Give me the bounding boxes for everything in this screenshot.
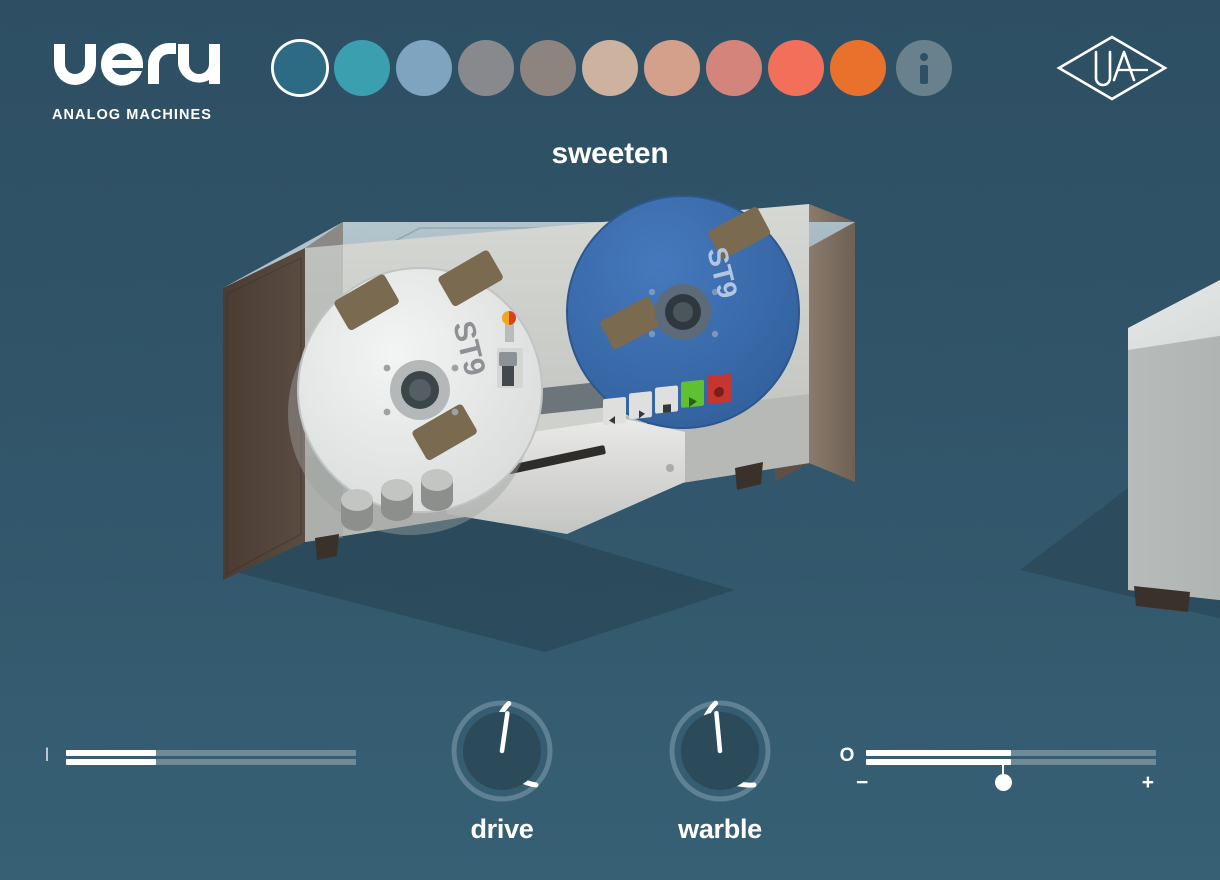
transport-stop-button[interactable] <box>655 385 678 413</box>
front-knob-2[interactable] <box>381 479 413 521</box>
swatch-machine-8[interactable] <box>706 40 762 96</box>
brand-tagline: ANALOG MACHINES <box>52 108 230 123</box>
machine-carousel[interactable]: ST9 ST9 <box>0 190 1220 650</box>
mode-switch[interactable] <box>497 348 523 388</box>
transport-fastforward-button[interactable] <box>629 391 652 419</box>
machine-swatch-selector[interactable] <box>272 40 952 96</box>
output-decrease-label[interactable]: − <box>856 774 868 792</box>
output-increase-label[interactable]: + <box>1142 774 1154 792</box>
front-knob-1[interactable] <box>341 489 373 531</box>
input-level-label: I <box>38 746 56 766</box>
drive-knob-label: drive <box>427 814 577 845</box>
input-meter-fill-left <box>66 750 156 756</box>
warble-knob-label: warble <box>645 814 795 845</box>
input-meter-track-right[interactable] <box>66 759 356 765</box>
transport-record-button[interactable] <box>707 374 732 405</box>
output-meter-fill-left <box>866 750 1011 756</box>
universal-audio-logo-icon <box>1056 34 1168 102</box>
preset-title: sweeten <box>0 137 1220 171</box>
info-icon-dot <box>920 53 928 61</box>
swatch-machine-3[interactable] <box>396 40 452 96</box>
output-slider[interactable]: − + <box>858 762 1148 800</box>
verve-wordmark-icon <box>52 36 230 100</box>
transport-play-button[interactable] <box>681 380 704 408</box>
controls-bar: I drive warble <box>0 650 1220 880</box>
tape-machine-illustration[interactable]: ST9 ST9 <box>215 182 875 652</box>
swatch-machine-1[interactable] <box>274 42 326 94</box>
output-meter-track-left[interactable] <box>866 750 1156 756</box>
input-meter[interactable]: I <box>38 746 356 766</box>
warble-knob-group[interactable]: warble <box>645 698 795 845</box>
input-meter-fill-right <box>66 759 156 765</box>
warble-knob[interactable] <box>667 698 773 804</box>
swatch-machine-5[interactable] <box>520 40 576 96</box>
drive-knob[interactable] <box>449 698 555 804</box>
drive-knob-group[interactable]: drive <box>427 698 577 845</box>
app-header: ANALOG MACHINES <box>0 0 1220 136</box>
input-meter-bars[interactable] <box>66 750 356 765</box>
info-icon-stem <box>920 65 928 84</box>
next-machine-preview[interactable] <box>1010 250 1220 650</box>
brand-logo: ANALOG MACHINES <box>52 36 230 98</box>
front-knob-3[interactable] <box>421 469 453 511</box>
swatch-machine-6[interactable] <box>582 40 638 96</box>
output-slider-handle[interactable] <box>995 774 1012 791</box>
swatch-machine-7[interactable] <box>644 40 700 96</box>
swatch-machine-9[interactable] <box>768 40 824 96</box>
swatch-machine-2[interactable] <box>334 40 390 96</box>
info-icon[interactable] <box>896 40 952 96</box>
transport-rewind-button[interactable] <box>603 397 626 425</box>
swatch-machine-10[interactable] <box>830 40 886 96</box>
output-level-label: O <box>838 746 856 766</box>
swatch-machine-4[interactable] <box>458 40 514 96</box>
input-meter-track-left[interactable] <box>66 750 356 756</box>
